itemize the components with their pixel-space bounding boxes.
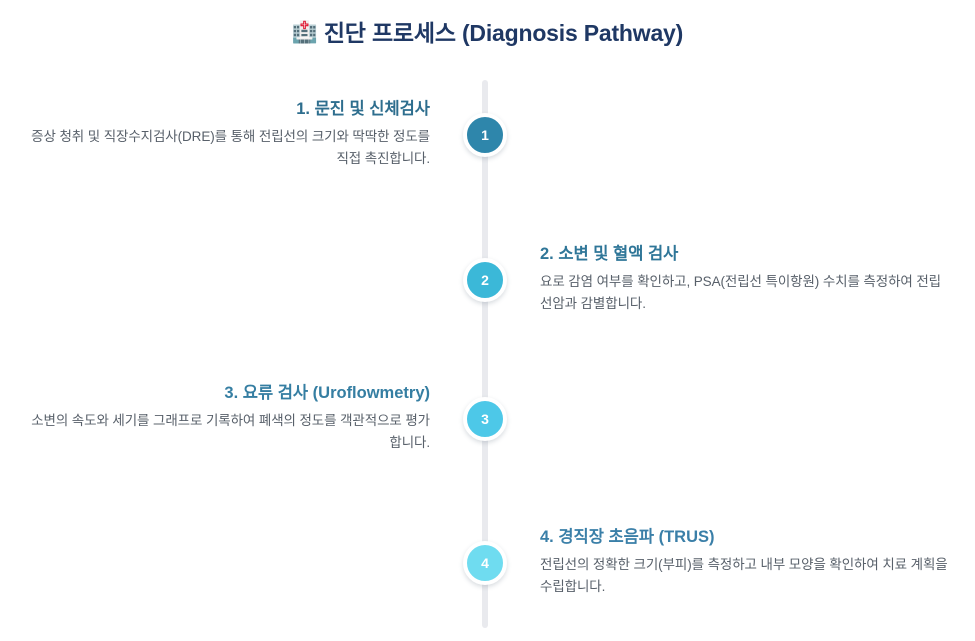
step-description-3: 소변의 속도와 세기를 그래프로 기록하여 폐색의 정도를 객관적으로 평가합니… [20, 410, 430, 454]
step-title-1: 1. 문진 및 신체검사 [20, 98, 430, 120]
timeline: 1 1. 문진 및 신체검사 증상 청취 및 직장수지검사(DRE)를 통해 전… [0, 70, 975, 641]
step-description-4: 전립선의 정확한 크기(부피)를 측정하고 내부 모양을 확인하여 치료 계획을… [540, 554, 950, 598]
step-marker-4[interactable]: 4 [463, 541, 507, 585]
step-marker-2[interactable]: 2 [463, 258, 507, 302]
timeline-step: 1 1. 문진 및 신체검사 증상 청취 및 직장수지검사(DRE)를 통해 전… [0, 98, 975, 208]
step-description-1: 증상 청취 및 직장수지검사(DRE)를 통해 전립선의 크기와 딱딱한 정도를… [20, 126, 430, 170]
step-content-1: 1. 문진 및 신체검사 증상 청취 및 직장수지검사(DRE)를 통해 전립선… [20, 98, 430, 170]
hospital-icon: 🏥 [292, 21, 318, 44]
step-content-3: 3. 요류 검사 (Uroflowmetry) 소변의 속도와 세기를 그래프로… [20, 382, 430, 454]
step-content-4: 4. 경직장 초음파 (TRUS) 전립선의 정확한 크기(부피)를 측정하고 … [540, 526, 950, 598]
step-title-3: 3. 요류 검사 (Uroflowmetry) [20, 382, 430, 404]
step-marker-1[interactable]: 1 [463, 113, 507, 157]
page-title-text: 진단 프로세스 (Diagnosis Pathway) [324, 20, 683, 46]
step-marker-3[interactable]: 3 [463, 397, 507, 441]
diagnosis-pathway-page: 🏥진단 프로세스 (Diagnosis Pathway) 1 1. 문진 및 신… [0, 0, 975, 641]
step-title-2: 2. 소변 및 혈액 검사 [540, 243, 950, 265]
timeline-step: 3 3. 요류 검사 (Uroflowmetry) 소변의 속도와 세기를 그래… [0, 382, 975, 492]
page-title: 🏥진단 프로세스 (Diagnosis Pathway) [0, 14, 975, 48]
step-content-2: 2. 소변 및 혈액 검사 요로 감염 여부를 확인하고, PSA(전립선 특이… [540, 243, 950, 315]
step-description-2: 요로 감염 여부를 확인하고, PSA(전립선 특이항원) 수치를 측정하여 전… [540, 271, 950, 315]
step-title-4: 4. 경직장 초음파 (TRUS) [540, 526, 950, 548]
timeline-step: 4 4. 경직장 초음파 (TRUS) 전립선의 정확한 크기(부피)를 측정하… [0, 526, 975, 636]
timeline-step: 2 2. 소변 및 혈액 검사 요로 감염 여부를 확인하고, PSA(전립선 … [0, 243, 975, 353]
